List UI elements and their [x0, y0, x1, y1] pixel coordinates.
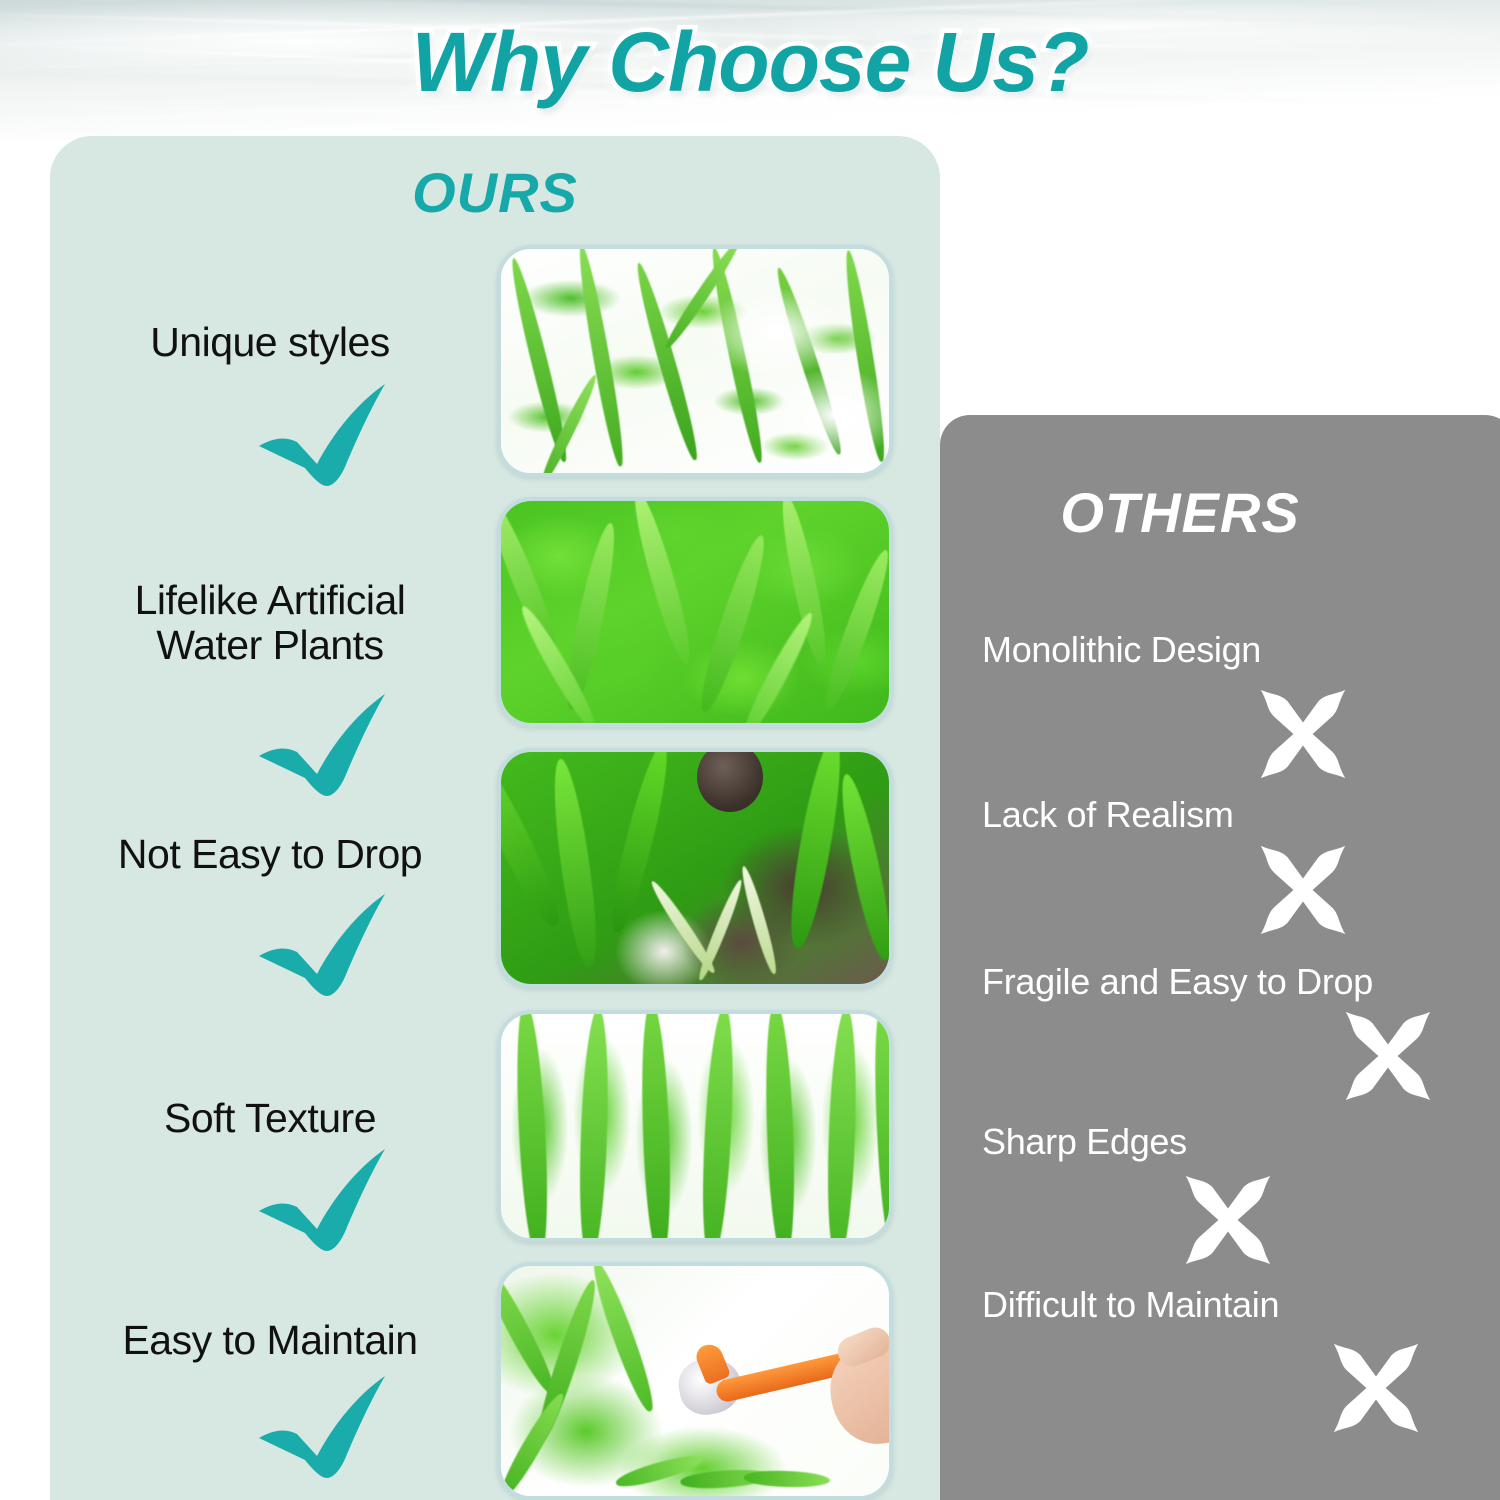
ours-feature-row: Unique styles: [60, 320, 480, 365]
ours-photo-5: [497, 1262, 893, 1500]
ours-feature-label: Unique styles: [60, 320, 480, 365]
ours-feature-label: Soft Texture: [60, 1096, 480, 1141]
others-drawback-label: Lack of Realism: [960, 795, 1480, 835]
others-panel: [940, 415, 1500, 1500]
x-icon: [1340, 1008, 1436, 1104]
others-drawback-row: Sharp Edges: [960, 1122, 1480, 1162]
x-icon: [1255, 686, 1351, 782]
ours-feature-label: Not Easy to Drop: [60, 832, 480, 877]
others-drawback-row: Lack of Realism: [960, 795, 1480, 835]
x-icon: [1328, 1340, 1424, 1436]
others-drawback-row: Difficult to Maintain: [960, 1285, 1480, 1325]
product-image: [501, 1014, 889, 1238]
others-drawback-row: Monolithic Design: [960, 630, 1480, 670]
page-title: Why Choose Us?: [0, 14, 1500, 111]
others-drawback-label: Difficult to Maintain: [960, 1285, 1480, 1325]
others-heading: OTHERS: [940, 480, 1420, 545]
ours-photo-1: [497, 245, 893, 477]
product-image: [501, 1266, 889, 1496]
product-image: [501, 752, 889, 984]
check-icon: [255, 690, 405, 800]
ours-feature-label: Lifelike Artificial: [60, 578, 480, 623]
check-icon: [255, 890, 405, 1000]
ours-feature-row: Easy to Maintain: [60, 1318, 480, 1363]
check-icon: [255, 1372, 405, 1482]
ours-photo-3: [497, 748, 893, 988]
ours-feature-label: Easy to Maintain: [60, 1318, 480, 1363]
ours-feature-label: Water Plants: [60, 623, 480, 668]
ours-heading: OURS: [50, 160, 940, 225]
check-icon: [255, 380, 405, 490]
x-icon: [1255, 842, 1351, 938]
ours-photo-2: [497, 497, 893, 727]
ours-feature-row: Soft Texture: [60, 1096, 480, 1141]
others-drawback-label: Sharp Edges: [960, 1122, 1480, 1162]
check-icon: [255, 1145, 405, 1255]
product-image: [501, 249, 889, 473]
others-drawback-row: Fragile and Easy to Drop: [960, 962, 1480, 1002]
ours-photo-4: [497, 1010, 893, 1242]
x-icon: [1180, 1172, 1276, 1268]
ours-feature-row: Lifelike Artificial Water Plants: [60, 578, 480, 668]
product-image: [501, 501, 889, 723]
ours-feature-row: Not Easy to Drop: [60, 832, 480, 877]
others-drawback-label: Fragile and Easy to Drop: [960, 962, 1480, 1002]
others-drawback-label: Monolithic Design: [960, 630, 1480, 670]
